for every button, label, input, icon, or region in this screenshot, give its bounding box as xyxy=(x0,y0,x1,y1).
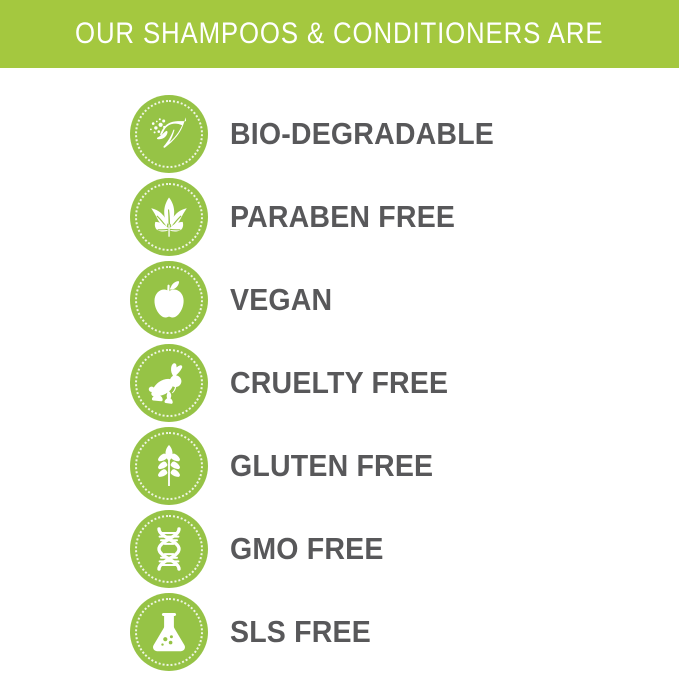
list-item: PARABEN FREE xyxy=(0,175,679,258)
claim-badge xyxy=(130,510,208,588)
claim-label: CRUELTY FREE xyxy=(230,367,448,398)
claim-label: BIO-DEGRADABLE xyxy=(230,118,494,149)
list-item: GMO FREE xyxy=(0,507,679,590)
claim-label: SLS FREE xyxy=(230,616,371,647)
dna-helix-icon xyxy=(145,525,193,573)
flask-icon xyxy=(145,608,193,656)
list-item: SLS FREE xyxy=(0,590,679,673)
claim-badge xyxy=(130,593,208,671)
claim-badge xyxy=(130,178,208,256)
claims-infographic: OUR SHAMPOOS & CONDITIONERS ARE xyxy=(0,0,679,679)
wheat-stalk-icon xyxy=(145,442,193,490)
claim-label: GMO FREE xyxy=(230,533,384,564)
list-item: CRUELTY FREE xyxy=(0,341,679,424)
claim-badge xyxy=(130,95,208,173)
dissolving-leaf-icon xyxy=(145,110,193,158)
claim-badge xyxy=(130,261,208,339)
claim-label: PARABEN FREE xyxy=(230,201,455,232)
claims-list: BIO-DEGRADABLE xyxy=(0,92,679,673)
list-item: GLUTEN FREE xyxy=(0,424,679,507)
herb-leaves-icon xyxy=(145,193,193,241)
list-item: BIO-DEGRADABLE xyxy=(0,92,679,175)
list-item: VEGAN xyxy=(0,258,679,341)
apple-icon xyxy=(145,276,193,324)
claim-badge xyxy=(130,344,208,422)
header-banner: OUR SHAMPOOS & CONDITIONERS ARE xyxy=(0,0,679,68)
rabbit-icon xyxy=(145,359,193,407)
claim-badge xyxy=(130,427,208,505)
claim-label: GLUTEN FREE xyxy=(230,450,433,481)
claim-label: VEGAN xyxy=(230,284,332,315)
page-title: OUR SHAMPOOS & CONDITIONERS ARE xyxy=(75,19,603,49)
